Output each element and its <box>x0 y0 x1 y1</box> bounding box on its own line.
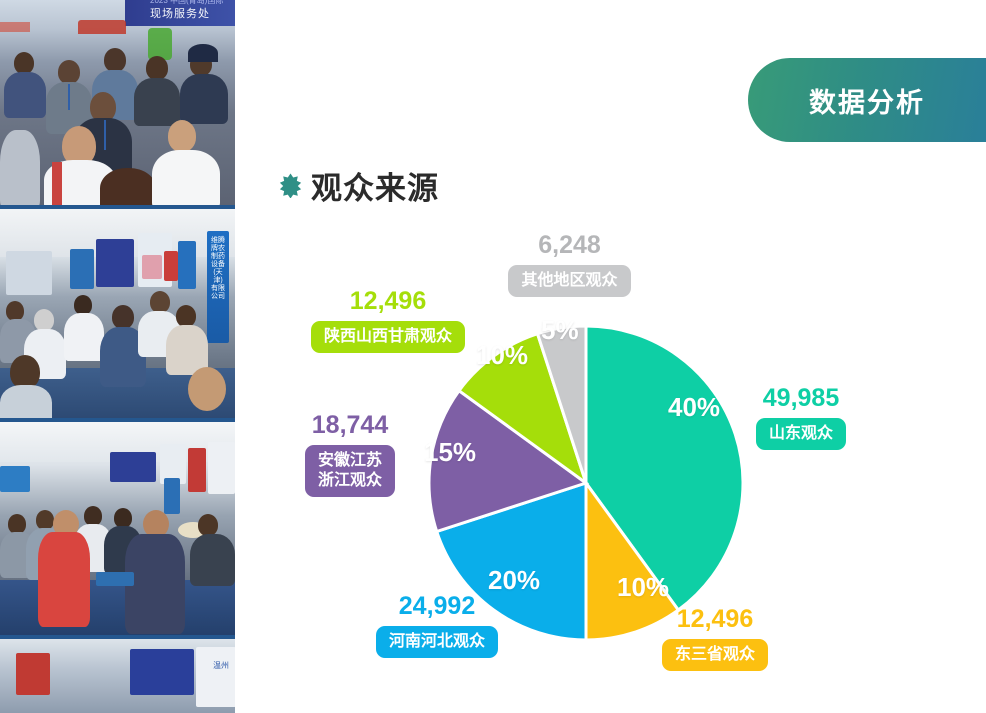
blue-booth <box>130 649 194 695</box>
slice-pct-northeast: 10% <box>617 572 669 603</box>
callout-value: 49,985 <box>763 383 839 413</box>
crowd-layer <box>0 209 235 418</box>
callout-label: 安徽江苏 浙江观众 <box>305 445 395 497</box>
photo-strip: 2023 中国(青岛)国际 现场服务处 <box>0 0 235 713</box>
page-title: 观众来源 <box>311 163 439 208</box>
section-banner: 数据分析 <box>748 58 986 142</box>
slice-pct-other: 5% <box>541 315 579 346</box>
booth-city-text: 温州 <box>213 661 229 670</box>
pie-slice-shandong[interactable] <box>586 326 743 610</box>
callout-label: 山东观众 <box>756 418 846 450</box>
callout-shaanxi-shanxi-gansu[interactable]: 12,496 陕西山西甘肃观众 <box>308 286 468 353</box>
crowd-layer <box>0 0 235 205</box>
section-heading: 观众来源 <box>278 163 439 208</box>
callout-anhui-jiangsu-zhejiang[interactable]: 18,744 安徽江苏 浙江观众 <box>294 410 406 497</box>
slice-pct-shaanxi: 10% <box>476 340 528 371</box>
callout-other-regions[interactable]: 6,248 其他地区观众 <box>497 230 642 297</box>
white-booth <box>196 647 235 707</box>
callout-label: 河南河北观众 <box>376 626 498 658</box>
slice-pct-anhui: 15% <box>424 437 476 468</box>
photo-exhibition-aisle: 维腾牌农制药设备(天津)有限公司 <box>0 209 235 418</box>
callout-value: 12,496 <box>350 286 426 316</box>
callout-value: 12,496 <box>677 604 753 634</box>
slice-pct-shandong: 40% <box>668 392 720 423</box>
red-booth <box>16 653 50 695</box>
banner-title: 数据分析 <box>809 81 925 120</box>
pie-slice-other-regions[interactable] <box>538 326 587 483</box>
slide-root: 2023 中国(青岛)国际 现场服务处 <box>0 0 986 713</box>
pie-slice-anhui-jiangsu-zhejiang[interactable] <box>429 391 586 532</box>
callout-shandong[interactable]: 49,985 山东观众 <box>751 383 851 450</box>
photo-aisle-crowd <box>0 422 235 636</box>
eight-point-star-icon <box>278 173 303 198</box>
callout-henan-hebei[interactable]: 24,992 河南河北观众 <box>375 591 499 658</box>
photo-booth-row: 温州 <box>0 639 235 713</box>
callout-label: 其他地区观众 <box>508 265 630 297</box>
callout-value: 18,744 <box>312 410 388 440</box>
pie-slice-shaanxi-shanxi-gansu[interactable] <box>459 334 586 483</box>
callout-value: 6,248 <box>538 230 601 260</box>
callout-value: 24,992 <box>399 591 475 621</box>
callout-label: 陕西山西甘肃观众 <box>311 321 465 353</box>
crowd-layer <box>0 422 235 636</box>
callout-label: 东三省观众 <box>662 639 768 671</box>
photo-crowd-entrance: 2023 中国(青岛)国际 现场服务处 <box>0 0 235 205</box>
callout-northeast-three-provinces[interactable]: 12,496 东三省观众 <box>659 604 771 671</box>
